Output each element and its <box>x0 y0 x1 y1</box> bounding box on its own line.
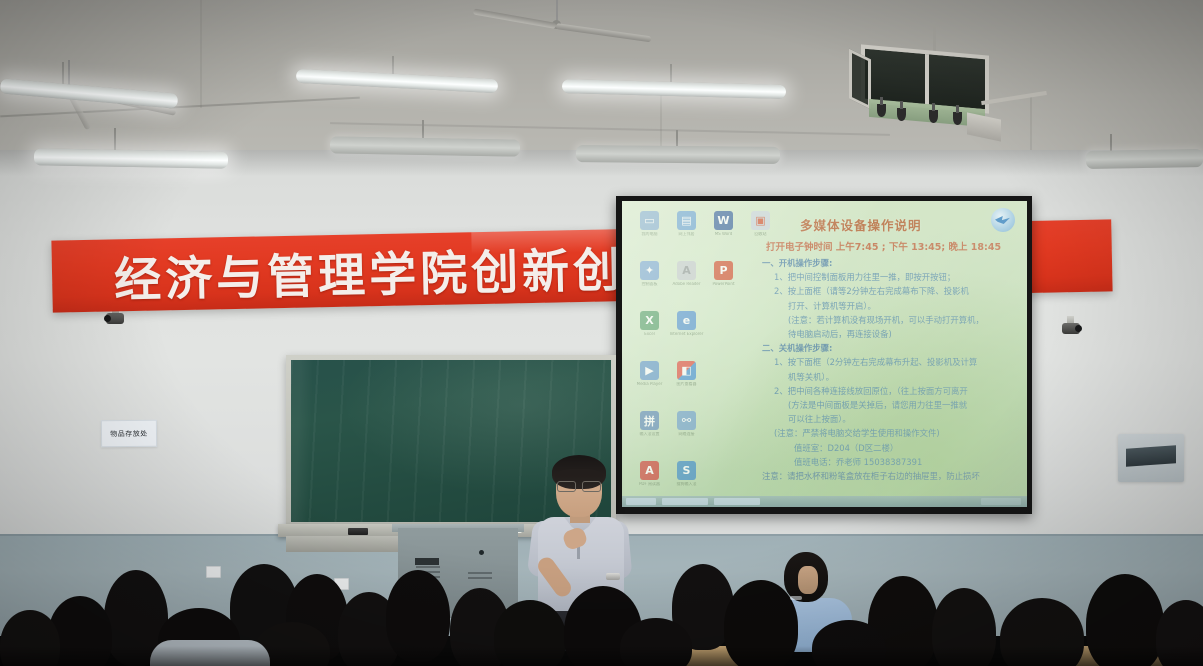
desktop-icon-empty <box>705 411 742 453</box>
network-folder-icon: ▤ <box>677 211 696 230</box>
desktop-icon[interactable]: ▤网上邻居 <box>668 211 705 253</box>
slide-warning: 注意：请把水杯和粉笔盒放在柜子右边的抽屉里，防止损坏 <box>762 469 1027 483</box>
desktop-icon[interactable]: WMS Word <box>705 211 742 253</box>
slide-line: 可以往上按面）。 <box>762 412 1027 426</box>
desktop-icon-empty <box>705 311 742 353</box>
storage-sign: 物品存放处 <box>101 420 157 448</box>
slide-line: (注意：若计算机没有现场开机，可以手动打开算机， <box>762 313 1027 327</box>
slide-line: (方法是中间面板是关掉后，请您用力往里一推就 <box>762 398 1027 412</box>
desktop-icon[interactable]: AAdobe Reader <box>668 261 705 303</box>
slide-line: 一、开机操作步骤: <box>762 256 1027 270</box>
light-rod <box>114 128 116 152</box>
projector-knob <box>929 110 938 123</box>
console-indicator-light <box>479 550 484 555</box>
blackboard-eraser[interactable] <box>348 528 368 535</box>
slide-schedule-line: 打开电子钟时间 上午7:45 ; 下午 13:45; 晚上 18:45 <box>766 239 1001 253</box>
slide-line: 2、按上面框（请等2分钟左右完成幕布下降、投影机 <box>762 284 1027 298</box>
light-rod <box>1110 134 1112 152</box>
desktop-icon[interactable]: XExcel <box>631 311 668 353</box>
network-connection-icon: ⚯ <box>677 411 696 430</box>
taskbar-item[interactable] <box>714 498 760 505</box>
ime-settings-icon: 拼 <box>640 411 659 430</box>
photo-bottom-shadow <box>0 646 1203 666</box>
word-icon: W <box>714 211 733 230</box>
projection-screen-frame: ▭我的电脑 ▤网上邻居 WMS Word ▣回收站 ✦控制面板 AAdobe R… <box>616 196 1032 514</box>
wall-ac-vent <box>1118 434 1184 482</box>
taskbar-item[interactable] <box>662 498 708 505</box>
projection-screen[interactable]: ▭我的电脑 ▤网上邻居 WMS Word ▣回收站 ✦控制面板 AAdobe R… <box>622 201 1027 507</box>
desktop-icon[interactable]: ◧图片查看器 <box>668 361 705 403</box>
fan-stem <box>556 0 558 22</box>
slide-line: 二、关机操作步骤: <box>762 341 1027 355</box>
fan-stem <box>68 60 70 86</box>
taskbar-tray[interactable] <box>981 498 1021 505</box>
audience-glasses-glint <box>790 596 802 600</box>
blue-bird-logo-icon <box>991 208 1015 232</box>
projector-cage-side <box>849 49 871 110</box>
projector-pole <box>933 22 936 52</box>
desktop-icon[interactable]: PPowerPoint <box>705 261 742 303</box>
ceiling-seam-6 <box>1030 96 1032 156</box>
classroom-photo-scene: 经济与管理学院创新创业大会 ▭我的电脑 ▤网上邻居 WMS Word ▣回收站 … <box>0 0 1203 666</box>
media-player-icon: ▶ <box>640 361 659 380</box>
desktop-icon[interactable]: ▭我的电脑 <box>631 211 668 253</box>
control-panel-icon: ✦ <box>640 261 659 280</box>
desktop-icon[interactable]: 拼输入法设置 <box>631 411 668 453</box>
projector-knob <box>897 108 906 121</box>
pdf-reader-icon: A <box>640 461 659 480</box>
slide-line: 2、把中间各种连接线放回原位，（往上按面方可离开 <box>762 384 1027 398</box>
camera-lens-icon <box>104 315 111 322</box>
light-tube <box>34 148 228 168</box>
light-tube <box>576 145 780 164</box>
light-tube <box>1086 149 1203 169</box>
recycle-bin-icon: ▣ <box>751 211 770 230</box>
desktop-icon[interactable]: ⚯网络连接 <box>668 411 705 453</box>
slide-line: 1、按下面框（2分钟左右完成幕布升起、投影机及计算 <box>762 355 1027 369</box>
sogou-ime-icon: S <box>677 461 696 480</box>
console-vent <box>468 577 492 579</box>
powerpoint-icon: P <box>714 261 733 280</box>
photo-viewer-icon: ◧ <box>677 361 696 380</box>
projector-knob <box>877 104 886 117</box>
storage-sign-label: 物品存放处 <box>110 428 148 438</box>
slide-line: 打开、计算机等开启）。 <box>762 299 1027 313</box>
adobe-reader-icon: A <box>677 261 696 280</box>
camera-lens-icon <box>1075 325 1082 332</box>
desktop-icon[interactable]: ▶Media Player <box>631 361 668 403</box>
wall-outlet[interactable] <box>206 566 221 578</box>
slide-line: 1、把中间控制面板用力往里一推，即按开按钮； <box>762 270 1027 284</box>
ceiling-seam-5 <box>660 92 662 154</box>
glasses-icon <box>556 481 602 490</box>
console-label-plate <box>415 558 439 565</box>
windows-taskbar[interactable] <box>622 496 1027 507</box>
slide-body: 一、开机操作步骤: 1、把中间控制面板用力往里一推，即按开按钮； 2、按上面框（… <box>762 256 1027 483</box>
slide-title: 多媒体设备操作说明 <box>800 215 922 234</box>
slide-line: 机等关机）。 <box>762 370 1027 384</box>
slide-line: (注意：严禁将电脑交给学生使用和操作文件) <box>762 426 1027 440</box>
slide-duty-room: 值班室：D204（D区二楼） <box>762 441 1027 455</box>
light-tube <box>330 136 520 156</box>
console-vent <box>416 566 440 568</box>
ceiling-projector <box>855 40 1015 135</box>
my-computer-icon: ▭ <box>640 211 659 230</box>
presenter-wristwatch <box>606 573 620 580</box>
desktop-icon[interactable]: eInternet Explorer <box>668 311 705 353</box>
camera-right <box>1056 316 1082 340</box>
internet-explorer-icon: e <box>677 311 696 330</box>
desktop-icon[interactable]: ✦控制面板 <box>631 261 668 303</box>
excel-icon: X <box>640 311 659 330</box>
projector-knob <box>953 112 962 125</box>
ceiling-seam-4 <box>200 0 202 108</box>
slide-duty-phone: 值班电话：乔老师 15038387391 <box>762 455 1027 469</box>
desktop-icon-empty <box>705 361 742 403</box>
seated-man-face <box>798 566 818 594</box>
console-vent <box>468 572 492 574</box>
desktop-icon-grid: ▭我的电脑 ▤网上邻居 WMS Word ▣回收站 ✦控制面板 AAdobe R… <box>631 211 779 507</box>
slide-line: 待电脑启动后，再连接设备) <box>762 327 1027 341</box>
